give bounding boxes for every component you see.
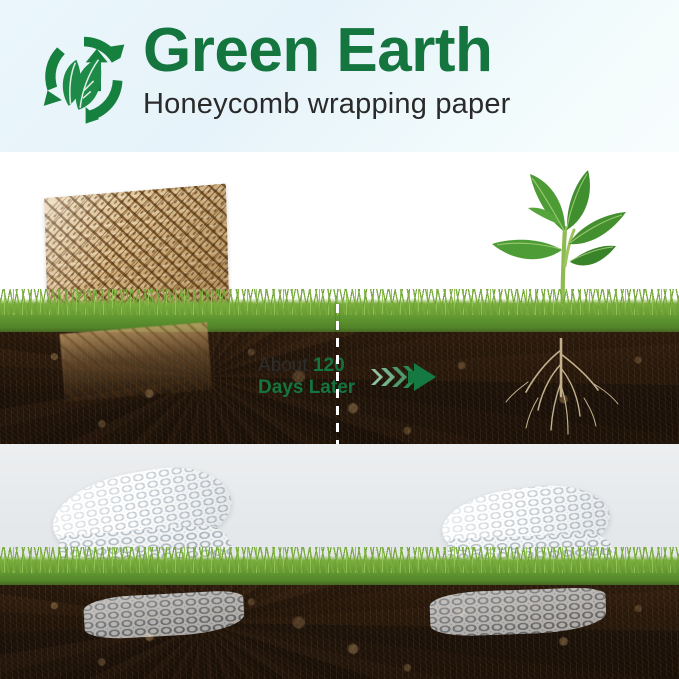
callout-prefix-top: About	[258, 355, 313, 376]
bubble-cells-texture	[429, 587, 606, 637]
callout-days-number-top: 120	[313, 355, 345, 376]
product-infographic: Green Earth Honeycomb wrapping paper	[0, 0, 679, 679]
biodegradable-panel: About 120 Days Later	[0, 152, 679, 444]
plant-roots	[498, 338, 624, 442]
decomposing-kraft-paper	[60, 322, 213, 402]
buried-plastic-right	[429, 587, 606, 637]
chevron-arrow-right-icon	[369, 357, 443, 397]
callout-text-top: About 120 Days Later	[258, 355, 355, 400]
plastic-panel: About 120 Days Later	[0, 444, 679, 679]
grass-layer-bottom	[0, 550, 679, 590]
buried-plastic-left	[83, 590, 245, 640]
bubble-cells-texture	[83, 590, 245, 640]
callout-line2-top: Days Later	[258, 377, 355, 399]
honeycomb-texture-buried	[60, 322, 213, 402]
panel-divider-top	[336, 304, 339, 444]
page-subtitle: Honeycomb wrapping paper	[143, 88, 511, 121]
recycle-leaves-icon	[36, 31, 132, 127]
brand-header: Green Earth Honeycomb wrapping paper	[0, 0, 679, 152]
callout-biodegradable: About 120 Days Later	[258, 355, 443, 400]
page-title: Green Earth	[143, 20, 511, 82]
brand-text-block: Green Earth Honeycomb wrapping paper	[143, 20, 511, 121]
